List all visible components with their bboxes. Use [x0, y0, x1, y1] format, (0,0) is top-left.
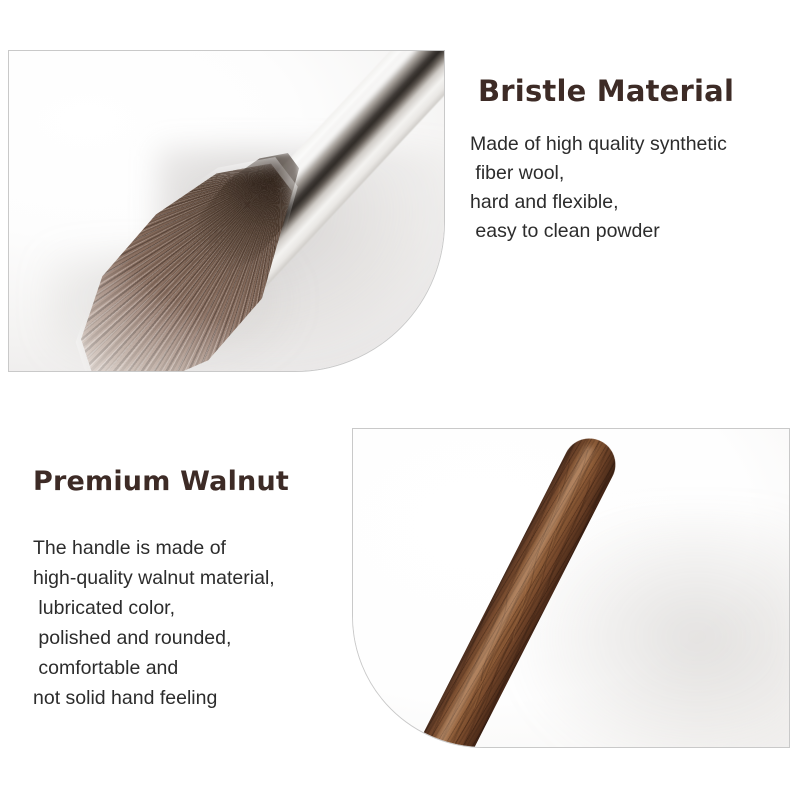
- walnut-photo-panel: [352, 428, 790, 748]
- infographic-page: Bristle Material Made of high quality sy…: [0, 0, 800, 800]
- walnut-body-line: not solid hand feeling: [33, 683, 353, 713]
- bristle-photo-panel: [8, 50, 445, 372]
- bristle-body-text: Made of high quality synthetic fiber woo…: [470, 130, 792, 246]
- walnut-heading: Premium Walnut: [33, 466, 353, 497]
- bristle-body-line: fiber wool,: [470, 159, 792, 188]
- walnut-body-line: The handle is made of: [33, 533, 353, 563]
- bristle-body-line: easy to clean powder: [470, 217, 792, 246]
- bristle-photo: [9, 51, 444, 371]
- walnut-photo: [353, 429, 789, 747]
- walnut-body-line: lubricated color,: [33, 593, 353, 623]
- bristle-text-block: Bristle Material Made of high quality sy…: [470, 74, 792, 246]
- walnut-body-line: comfortable and: [33, 653, 353, 683]
- bristle-edge-softening: [54, 155, 318, 371]
- walnut-text-block: Premium Walnut The handle is made of hig…: [33, 466, 353, 713]
- walnut-body-line: high-quality walnut material,: [33, 563, 353, 593]
- bristle-body-line: hard and flexible,: [470, 188, 792, 217]
- bristle-body-line: Made of high quality synthetic: [470, 130, 792, 159]
- bristle-heading: Bristle Material: [478, 74, 792, 108]
- brush-bristles: [60, 162, 311, 371]
- walnut-body-text: The handle is made of high-quality walnu…: [33, 533, 353, 713]
- walnut-body-line: polished and rounded,: [33, 623, 353, 653]
